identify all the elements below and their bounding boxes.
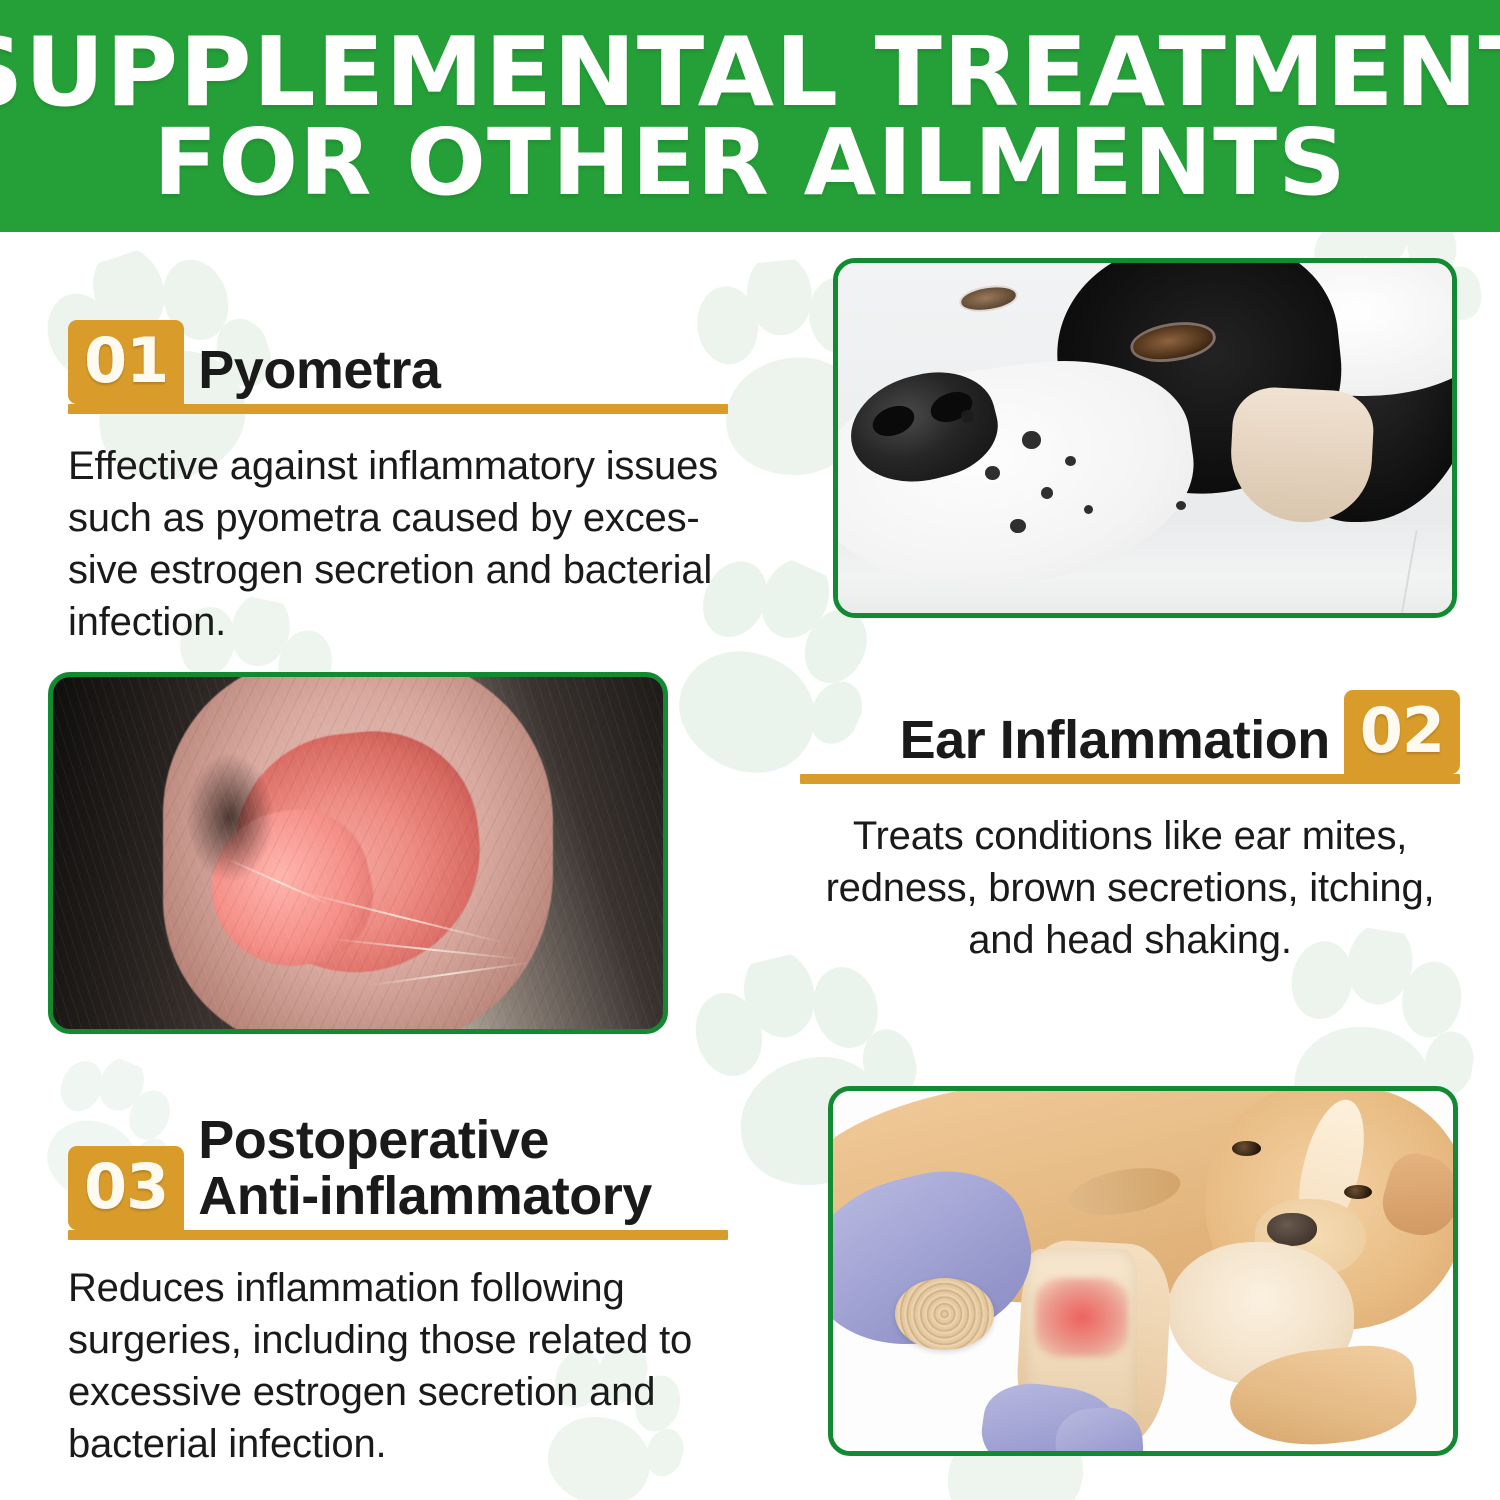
header-title-line-2: FOR OTHER AILMENTS: [153, 121, 1346, 206]
section-02-accent-rule: [800, 774, 1460, 784]
section-03-number-badge: 03: [68, 1146, 184, 1230]
section-01-title: Pyometra: [184, 342, 440, 404]
section-02-title: Ear Inflammation: [900, 712, 1344, 774]
infographic-page: SUPPLEMENTAL TREATMENT FOR OTHER AILMENT…: [0, 0, 1500, 1500]
section-03-text-block: 03 Postoperative Anti-inflammatory Reduc…: [68, 1112, 728, 1470]
section-01-number-badge: 01: [68, 320, 184, 404]
section-02-heading-row: Ear Inflammation 02: [800, 690, 1460, 774]
section-03-body-text: Reduces inflammation following surgeries…: [68, 1262, 728, 1470]
section-02-number-badge: 02: [1344, 690, 1460, 774]
section-03-heading-row: 03 Postoperative Anti-inflammatory: [68, 1112, 728, 1230]
photo-resting-spaniel: [838, 263, 1452, 613]
section-01-text-block: 01 Pyometra Effective against inflammato…: [68, 320, 728, 648]
section-01-body-text: Effective against inflammatory issues su…: [68, 440, 728, 648]
section-01-photo-frame: [833, 258, 1457, 618]
section-02-text-block: Ear Inflammation 02 Treats conditions li…: [800, 690, 1460, 966]
section-03-accent-rule: [68, 1230, 728, 1240]
photo-inflamed-ear-canal: [53, 677, 663, 1029]
section-03-photo-frame: [828, 1086, 1458, 1456]
section-02-body-text: Treats conditions like ear mites, rednes…: [800, 810, 1460, 966]
section-01-heading-row: 01 Pyometra: [68, 320, 728, 404]
section-01-accent-rule: [68, 404, 728, 414]
photo-vet-bandaging-labrador: [833, 1091, 1453, 1451]
section-03-title: Postoperative Anti-inflammatory: [184, 1112, 652, 1230]
page-header-banner: SUPPLEMENTAL TREATMENT FOR OTHER AILMENT…: [0, 0, 1500, 232]
section-02-photo-frame: [48, 672, 668, 1034]
header-title-line-1: SUPPLEMENTAL TREATMENT: [0, 30, 1500, 117]
